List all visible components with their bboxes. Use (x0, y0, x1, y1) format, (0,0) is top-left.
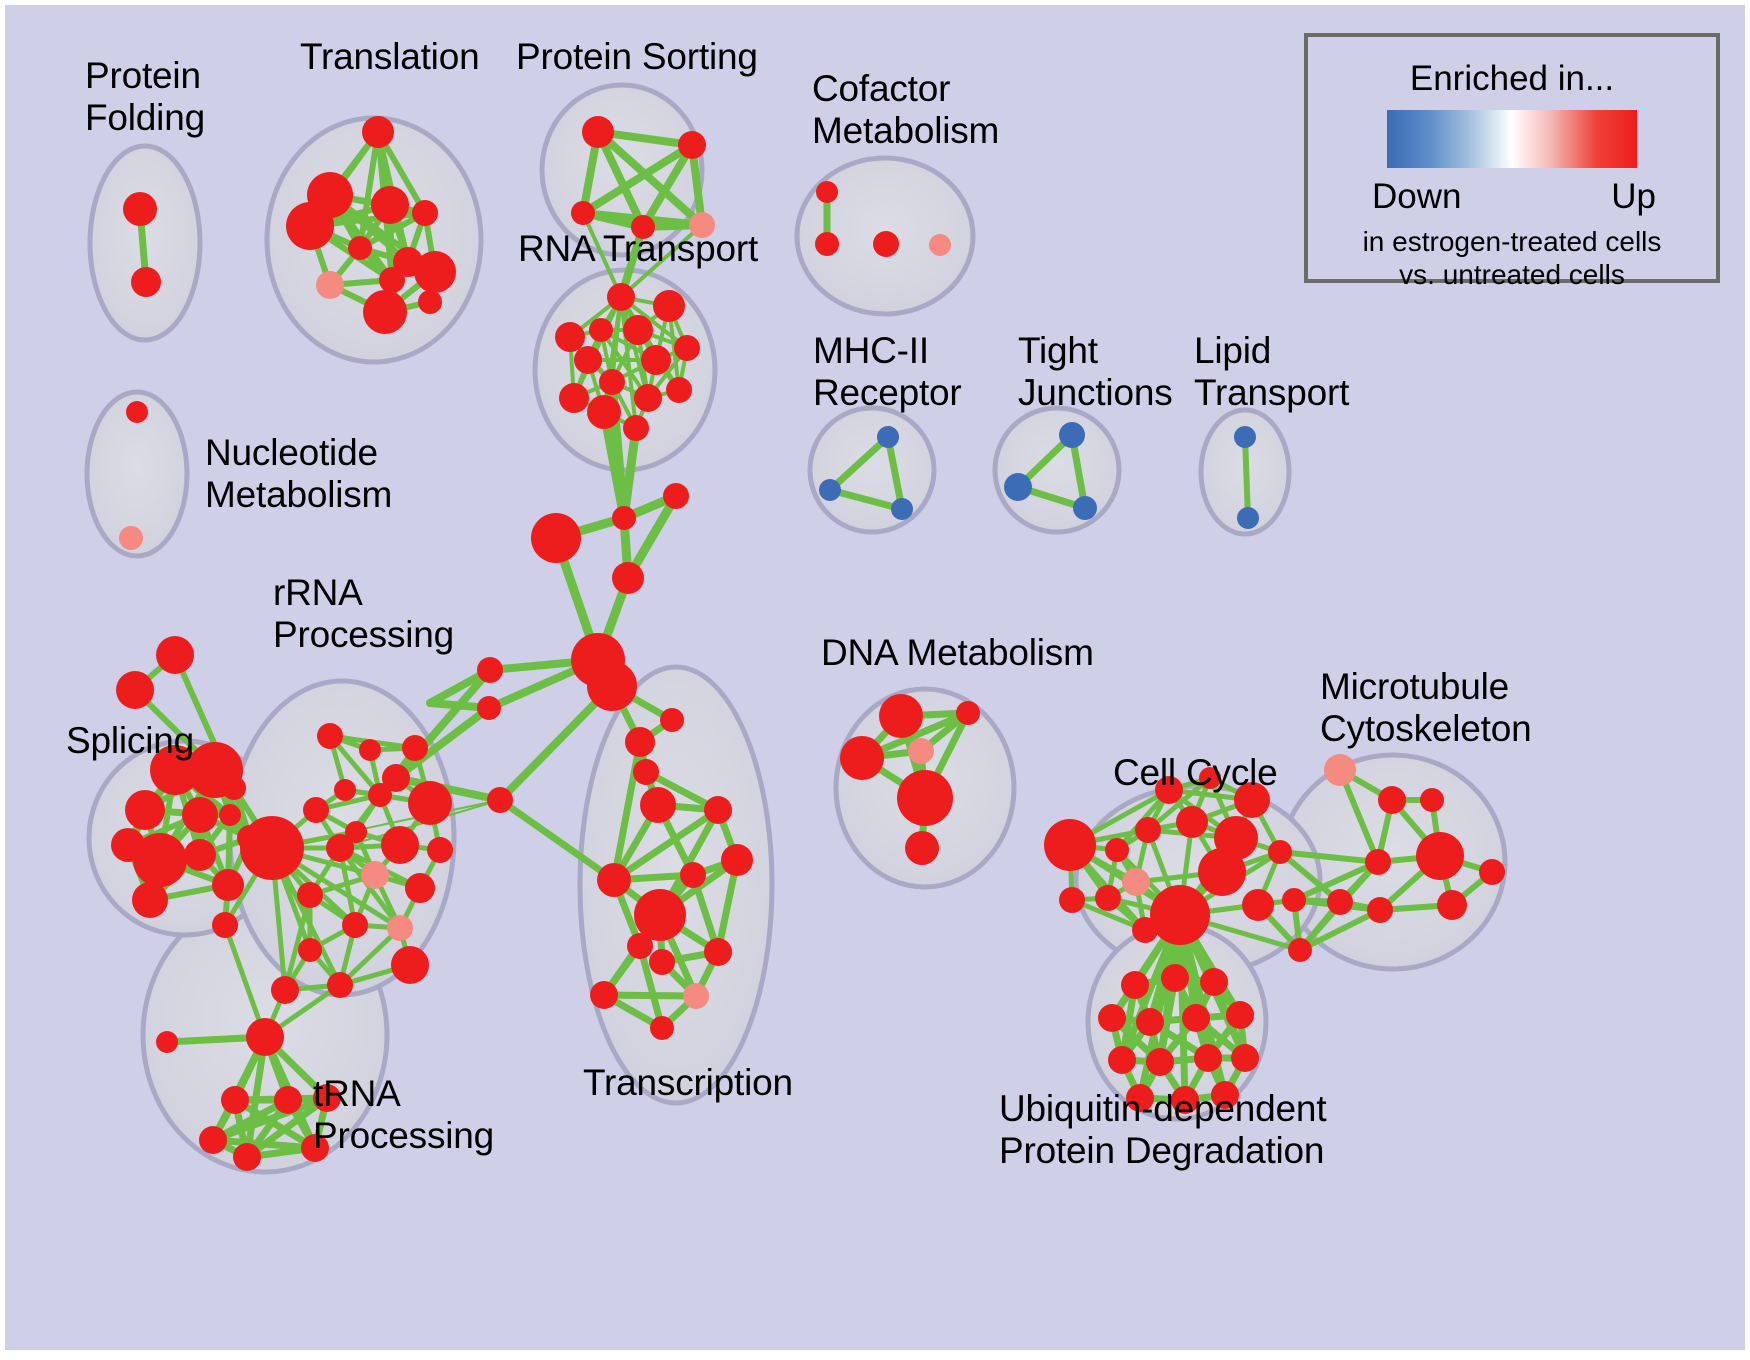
label-cell-cycle: Cell Cycle (1113, 752, 1278, 794)
legend-title: Enriched in... (1308, 59, 1716, 99)
label-cofactor: Cofactor Metabolism (812, 68, 999, 152)
label-tight-junctions: Tight Junctions (1018, 330, 1173, 414)
label-microtubule: Microtubule Cytoskeleton (1320, 666, 1532, 750)
legend-up-label: Up (1611, 177, 1656, 217)
label-nucleotide: Nucleotide Metabolism (205, 432, 392, 516)
label-transcription: Transcription (583, 1062, 793, 1104)
label-trna: tRNA Processing (313, 1073, 494, 1157)
label-rna-transport: RNA Transport (518, 228, 758, 270)
legend-color-bar (1387, 110, 1637, 168)
label-dna-metabolism: DNA Metabolism (821, 632, 1094, 674)
cluster-halo-tight-junctions (995, 408, 1119, 532)
label-protein-folding: Protein Folding (85, 55, 205, 139)
label-lipid-transport: Lipid Transport (1194, 330, 1349, 414)
label-translation: Translation (300, 36, 479, 78)
label-splicing: Splicing (66, 720, 194, 762)
legend-panel: Enriched in... Down Up in estrogen-treat… (1304, 33, 1720, 283)
legend-down-label: Down (1372, 177, 1461, 217)
label-protein-sorting: Protein Sorting (516, 36, 758, 78)
figure-root: Protein Folding Translation Protein Sort… (0, 0, 1750, 1360)
label-rrna: rRNA Processing (273, 572, 454, 656)
label-mhc-ii: MHC-II Receptor (813, 330, 962, 414)
edge-lipid-transport (1245, 437, 1248, 518)
label-ubiquitin: Ubiquitin-dependent Protein Degradation (999, 1088, 1326, 1172)
legend-subtitle: in estrogen-treated cells vs. untreated … (1308, 225, 1716, 291)
cluster-halo-mhc-ii (810, 408, 934, 532)
